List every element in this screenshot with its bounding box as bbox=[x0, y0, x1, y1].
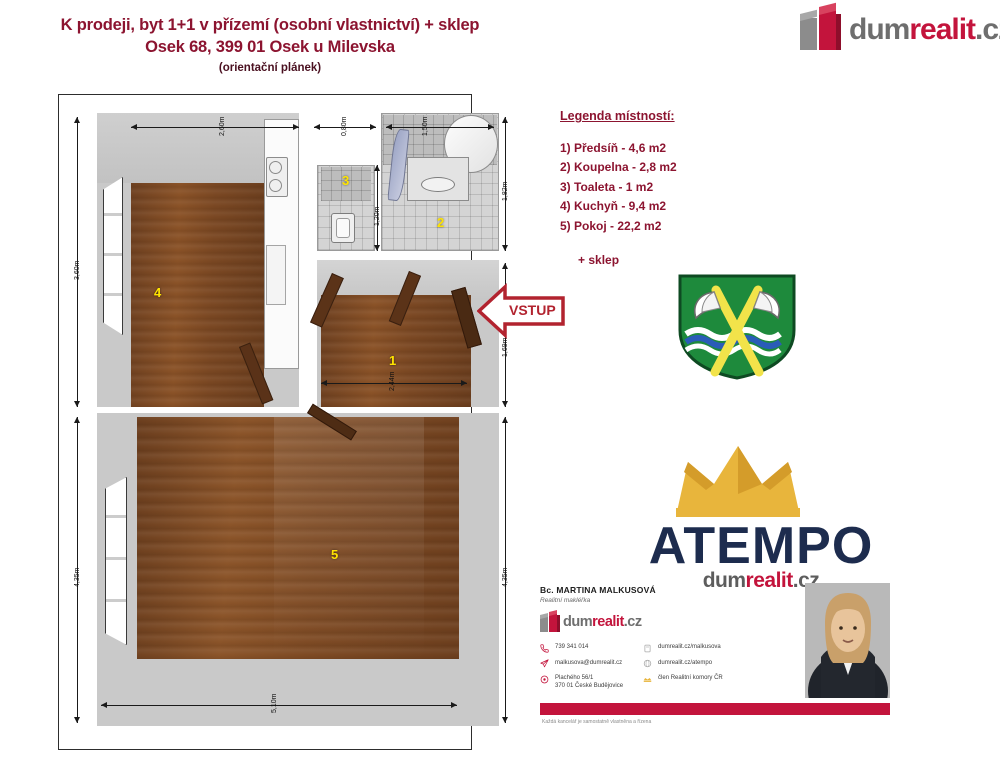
agent-contact-card: Bc. MARTINA MALKUSOVÁ Realitní makléřka … bbox=[540, 585, 890, 725]
contact-web-personal[interactable]: dumrealit.cz/malkusova bbox=[643, 643, 723, 653]
kitchen-window-mullion-3 bbox=[104, 293, 122, 296]
contact-phone-text: 739 341 014 bbox=[555, 643, 588, 651]
contact-membership: člen Realitní komory ČR bbox=[643, 674, 723, 684]
room-number-3: 3 bbox=[342, 173, 349, 188]
legend-list: 1) Předsíň - 4,6 m2 2) Koupelna - 2,8 m2… bbox=[560, 139, 800, 236]
entrance-marker: VSTUP bbox=[477, 283, 565, 339]
page-title: K prodeji, byt 1+1 v přízemí (osobní vla… bbox=[0, 14, 540, 74]
brand-word-cz: .cz bbox=[975, 13, 1000, 46]
legend-extra: + sklep bbox=[578, 253, 800, 267]
contact-email-text: malkusova@dumrealit.cz bbox=[555, 659, 622, 667]
badge-icon bbox=[643, 675, 652, 684]
brand-logo: dumrealit.cz bbox=[800, 10, 1000, 50]
room-kitchen-floor bbox=[131, 183, 264, 407]
entrance-label: VSTUP bbox=[509, 302, 556, 318]
dim-line-living-width bbox=[101, 705, 457, 706]
contact-phone[interactable]: 739 341 014 bbox=[540, 643, 623, 653]
living-window-mullion-3 bbox=[106, 599, 126, 602]
title-line-2: Osek 68, 399 01 Osek u Milevska bbox=[0, 36, 540, 60]
contact-column-left: 739 341 014 malkusova@dumrealit.cz Plach… bbox=[540, 643, 623, 690]
globe-icon bbox=[643, 659, 652, 668]
brand-word-realit: realit bbox=[909, 13, 975, 46]
kitchen-cabinet bbox=[266, 245, 286, 305]
title-subtitle: (orientační plánek) bbox=[0, 62, 540, 74]
crown-icon bbox=[666, 442, 856, 522]
contact-address: Plachého 56/1 370 01 České Budějovice bbox=[540, 674, 623, 690]
living-window-mullion-2 bbox=[106, 557, 126, 560]
dim-label-hall-width: 2,44m bbox=[389, 372, 396, 391]
kitchen-window-mullion-1 bbox=[104, 213, 122, 216]
contact-web-office-text: dumrealit.cz/atempo bbox=[658, 659, 712, 667]
contact-address-text: Plachého 56/1 370 01 České Budějovice bbox=[555, 674, 623, 690]
dim-label-living-width: 5,10m bbox=[271, 694, 278, 713]
dim-label-living-height-left: 4,35m bbox=[74, 568, 81, 587]
phone-icon bbox=[540, 644, 549, 653]
living-window bbox=[105, 477, 127, 645]
title-line-1: K prodeji, byt 1+1 v přízemí (osobní vla… bbox=[0, 14, 540, 36]
contact-column-right: dumrealit.cz/malkusova dumrealit.cz/atem… bbox=[643, 643, 723, 690]
bathroom-sink bbox=[421, 177, 455, 192]
atempo-logo: ATEMPO dumrealit.cz bbox=[616, 442, 906, 593]
contact-web-personal-text: dumrealit.cz/malkusova bbox=[658, 643, 721, 651]
agent-photo bbox=[805, 583, 890, 698]
room-number-1: 1 bbox=[389, 353, 396, 368]
brand-word-dum: dum bbox=[849, 13, 909, 46]
card-word-cz: .cz bbox=[624, 614, 642, 630]
contact-web-office[interactable]: dumrealit.cz/atempo bbox=[643, 659, 723, 669]
globe-icon bbox=[643, 644, 652, 653]
disclaimer-text: Každá kancelář je samostatně vlastněna a… bbox=[542, 719, 651, 725]
location-pin-icon bbox=[540, 675, 549, 684]
legend-title: Legenda místností: bbox=[560, 109, 800, 123]
legend-item-5: 5) Pokoj - 22,2 m2 bbox=[560, 217, 800, 236]
house-logo-icon bbox=[540, 613, 559, 632]
dim-label-kitchen-height: 3,60m bbox=[74, 261, 81, 280]
card-word-realit: realit bbox=[592, 614, 624, 630]
legend-item-1: 1) Předsíň - 4,6 m2 bbox=[560, 139, 800, 158]
legend-item-4: 4) Kuchyň - 9,4 m2 bbox=[560, 197, 800, 216]
contact-membership-text: člen Realitní komory ČR bbox=[658, 674, 723, 682]
dim-label-toilet-width: 0,80m bbox=[341, 117, 348, 136]
contact-email[interactable]: malkusova@dumrealit.cz bbox=[540, 659, 623, 669]
kitchen-window bbox=[103, 177, 123, 335]
floorplan-frame: 4 3 2 1 5 2,60m 3,60m 0,80m 1,20m 1,50m … bbox=[58, 94, 472, 750]
legend-item-3: 3) Toaleta - 1 m2 bbox=[560, 178, 800, 197]
card-word-dum: dum bbox=[563, 614, 592, 630]
room-number-5: 5 bbox=[331, 547, 338, 562]
legend-item-2: 2) Koupelna - 2,8 m2 bbox=[560, 158, 800, 177]
house-logo-icon bbox=[800, 10, 840, 50]
brand-wordmark: dumrealit.cz bbox=[849, 15, 1000, 45]
card-wordmark: dumrealit.cz bbox=[563, 615, 642, 630]
dim-label-bath-width: 1,50m bbox=[422, 117, 429, 136]
room-legend: Legenda místností: 1) Předsíň - 4,6 m2 2… bbox=[560, 109, 800, 267]
living-window-mullion-1 bbox=[106, 515, 126, 518]
room-number-4: 4 bbox=[154, 285, 161, 300]
room-number-2: 2 bbox=[437, 215, 444, 230]
toilet-bowl-inner bbox=[336, 218, 350, 238]
kitchen-burner-1 bbox=[269, 161, 282, 174]
kitchen-window-mullion-2 bbox=[104, 253, 122, 256]
atempo-wordmark: ATEMPO bbox=[616, 522, 906, 571]
dim-label-living-height-right: 4,35m bbox=[502, 568, 509, 587]
dim-label-hall-height: 1,69m bbox=[502, 338, 509, 357]
dim-line-bath-width bbox=[386, 127, 494, 128]
room-living-floor-sheen bbox=[274, 417, 424, 659]
coat-of-arms-osek bbox=[676, 272, 798, 380]
dim-label-bath-height: 1,82m bbox=[502, 182, 509, 201]
dim-line-kitchen-width bbox=[131, 127, 299, 128]
dim-label-toilet-height: 1,20m bbox=[374, 207, 381, 226]
kitchen-burner-2 bbox=[269, 179, 282, 192]
mail-send-icon bbox=[540, 659, 549, 668]
brand-color-bar bbox=[540, 703, 890, 715]
dim-label-kitchen-width: 2,60m bbox=[219, 117, 226, 136]
